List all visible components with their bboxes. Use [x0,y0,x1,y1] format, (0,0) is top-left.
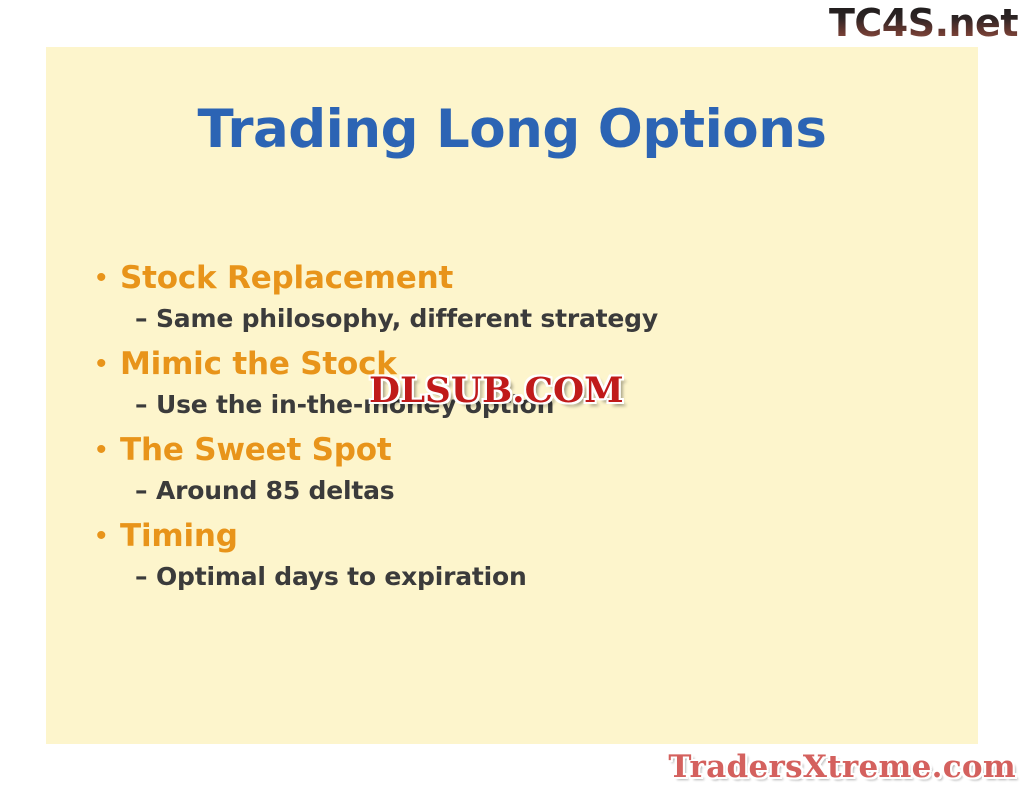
sub-dash-icon: – [88,559,156,595]
bullet-label: Mimic the Stock [120,345,397,384]
sub-item-stock-replacement: – Same philosophy, different strategy [88,301,908,343]
sub-label: Optimal days to expiration [156,559,527,595]
sub-label: Same philosophy, different strategy [156,301,658,337]
sub-item-timing: – Optimal days to expiration [88,559,908,601]
bullet-group: • Stock Replacement – Same philosophy, d… [88,259,908,343]
bullet-item-the-sweet-spot: • The Sweet Spot [88,431,908,473]
bullet-item-stock-replacement: • Stock Replacement [88,259,908,301]
bullet-dot-icon: • [88,431,120,469]
bullet-label: Timing [120,517,238,556]
bullet-label: Stock Replacement [120,259,453,298]
tc4s-logo-watermark: TC4S.net [829,2,1018,44]
presentation-slide: Trading Long Options • Stock Replacement… [46,47,978,744]
sub-dash-icon: – [88,473,156,509]
bullet-dot-icon: • [88,259,120,297]
slide-title: Trading Long Options [46,100,978,160]
bullet-dot-icon: • [88,345,120,383]
tradersxtreme-brand-watermark: TradersXtreme.com [668,749,1016,785]
bullet-group: • The Sweet Spot – Around 85 deltas [88,431,908,515]
dlsub-watermark: DLSUB.COM [369,372,624,410]
bullet-dot-icon: • [88,517,120,555]
bullet-label: The Sweet Spot [120,431,392,470]
bullet-group: • Timing – Optimal days to expiration [88,517,908,601]
bullet-list: • Stock Replacement – Same philosophy, d… [88,259,908,603]
sub-label: Around 85 deltas [156,473,394,509]
sub-dash-icon: – [88,301,156,337]
sub-item-the-sweet-spot: – Around 85 deltas [88,473,908,515]
slide-screenshot: TC4S.net TC4S.net Trading Long Options •… [0,0,1024,791]
bullet-item-timing: • Timing [88,517,908,559]
sub-dash-icon: – [88,387,156,423]
